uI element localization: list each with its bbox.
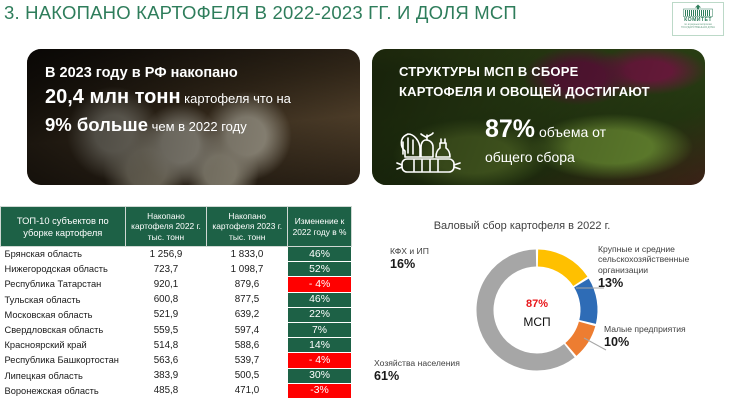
table-row: Республика Башкортостан563,6539,7- 4%: [1, 353, 352, 368]
cell-2023: 500,5: [207, 368, 288, 383]
legend-small-enterprises: Малые предприятия 10%: [604, 324, 726, 350]
cell-2022: 1 256,9: [125, 247, 207, 262]
table-row: Тульская область600,8877,546%: [1, 292, 352, 307]
table-row: Липецкая область383,9500,530%: [1, 368, 352, 383]
cell-change: - 4%: [288, 277, 352, 292]
msp-line-1: СТРУКТУРЫ МСП В СБОРЕ: [399, 62, 705, 82]
legend-large-line2: сельскохозяйственные: [598, 254, 724, 264]
cell-region: Свердловская область: [1, 322, 126, 337]
card-potato-harvest: В 2023 году в РФ накопано 20,4 млн тонн …: [27, 49, 360, 185]
top10-regions-table: ТОП-10 субъектов по уборке картофеля Нак…: [0, 206, 352, 399]
legend-kfh-name: КФХ и ИП: [390, 246, 482, 256]
msp-value-line-2: общего сбора: [485, 145, 705, 169]
cell-2022: 514,8: [125, 338, 207, 353]
cell-change: 52%: [288, 262, 352, 277]
potato-line-1: В 2023 году в РФ накопано: [45, 63, 360, 84]
column-header-2023: Накопано картофеля 2023 г. тыс. тонн: [207, 207, 288, 247]
legend-small-value: 10%: [604, 335, 726, 350]
col1-line2: уборке картофеля: [3, 227, 123, 239]
table-header: ТОП-10 субъектов по уборке картофеля Нак…: [1, 207, 352, 247]
cell-region: Республика Башкортостан: [1, 353, 126, 368]
cell-2023: 588,6: [207, 338, 288, 353]
cell-2023: 1 833,0: [207, 247, 288, 262]
gross-harvest-chart: Валовый сбор картофеля в 2022 г. 87% МСП…: [372, 216, 730, 410]
potato-line-3: 9% больше чем в 2022 году: [45, 112, 360, 139]
card-msp-share: СТРУКТУРЫ МСП В СБОРЕ КАРТОФЕЛЯ И ОВОЩЕЙ…: [372, 49, 705, 185]
potato-growth-suffix: чем в 2022 году: [152, 119, 247, 134]
legend-house-value: 61%: [374, 369, 514, 384]
legend-house-name: Хозяйства населения: [374, 358, 514, 368]
cell-region: Красноярский край: [1, 338, 126, 353]
cell-change: 7%: [288, 322, 352, 337]
col3-line2: картофеля 2023 г.: [209, 221, 285, 232]
legend-kfh-value: 16%: [390, 257, 482, 272]
table-row: Нижегородская область723,71 098,752%: [1, 262, 352, 277]
cell-change: 30%: [288, 368, 352, 383]
table-header-row: ТОП-10 субъектов по уборке картофеля Нак…: [1, 207, 352, 247]
cell-region: Воронежская область: [1, 383, 126, 398]
legend-kfh: КФХ и ИП 16%: [390, 246, 482, 272]
cell-2022: 383,9: [125, 368, 207, 383]
col1-line1: ТОП-10 субъектов по: [3, 215, 123, 227]
chart-title: Валовый сбор картофеля в 2022 г.: [372, 220, 672, 232]
msp-line-2: КАРТОФЕЛЯ И ОВОЩЕЙ ДОСТИГАЮТ: [399, 82, 705, 102]
msp-percent-value: 87%: [485, 115, 535, 143]
table-row: Воронежская область485,8471,0-3%: [1, 383, 352, 398]
cell-change: 46%: [288, 247, 352, 262]
slide-root: 3. НАКОПАНО КАРТОФЕЛЯ В 2022-2023 ГГ. И …: [0, 0, 730, 410]
potato-line-2: 20,4 млн тонн картофеля что на: [45, 84, 360, 112]
cell-change: - 4%: [288, 353, 352, 368]
table-body: Брянская область1 256,91 833,046%Нижегор…: [1, 247, 352, 399]
col4-line2: 2022 году в %: [290, 227, 349, 238]
cell-region: Липецкая область: [1, 368, 126, 383]
msp-value-line: 87% объема от: [485, 116, 705, 145]
table-row: Свердловская область559,5597,47%: [1, 322, 352, 337]
cell-2022: 521,9: [125, 307, 207, 322]
legend-households: Хозяйства населения 61%: [374, 358, 514, 384]
logo-subtitle-2: ГОСУДАРСТВЕННАЯ ДУМА: [681, 26, 715, 29]
table-row: Брянская область1 256,91 833,046%: [1, 247, 352, 262]
legend-large-line1: Крупные и средние: [598, 244, 724, 254]
cell-2022: 563,6: [125, 353, 207, 368]
legend-small-name: Малые предприятия: [604, 324, 726, 334]
msp-value-suffix: объема от: [539, 124, 606, 140]
potato-growth-value: 9% больше: [45, 114, 148, 135]
cell-change: 14%: [288, 338, 352, 353]
column-header-2022: Накопано картофеля 2022 г. тыс. тонн: [125, 207, 207, 247]
col3-line1: Накопано: [209, 211, 285, 222]
cell-2023: 597,4: [207, 322, 288, 337]
cell-2022: 920,1: [125, 277, 207, 292]
cell-region: Тульская область: [1, 292, 126, 307]
card-potato-content: В 2023 году в РФ накопано 20,4 млн тонн …: [27, 49, 360, 139]
cell-2023: 471,0: [207, 383, 288, 398]
crest-icon: [683, 4, 713, 17]
col2-line2: картофеля 2022 г.: [128, 221, 205, 232]
col3-line3: тыс. тонн: [209, 232, 285, 243]
cell-change: 46%: [288, 292, 352, 307]
table-row: Республика Татарстан920,1879,6- 4%: [1, 277, 352, 292]
donut-chart: [475, 248, 599, 372]
col4-line1: Изменение к: [290, 216, 349, 227]
potato-volume-suffix: картофеля что на: [184, 91, 291, 106]
cell-change: -3%: [288, 383, 352, 398]
legend-large-orgs: Крупные и средние сельскохозяйственные о…: [598, 244, 724, 291]
committee-logo: КОМИТЕТ по аграрным вопросам ГОСУДАРСТВЕ…: [672, 2, 724, 36]
potato-volume-value: 20,4 млн тонн: [45, 86, 181, 108]
column-header-region: ТОП-10 субъектов по уборке картофеля: [1, 207, 126, 247]
cell-region: Нижегородская область: [1, 262, 126, 277]
cell-2023: 1 098,7: [207, 262, 288, 277]
cell-region: Московская область: [1, 307, 126, 322]
cell-2022: 723,7: [125, 262, 207, 277]
cell-2023: 879,6: [207, 277, 288, 292]
cell-region: Республика Татарстан: [1, 277, 126, 292]
cell-2023: 877,5: [207, 292, 288, 307]
table-row: Красноярский край514,8588,614%: [1, 338, 352, 353]
donut-slice-0: [485, 258, 569, 362]
legend-large-value: 13%: [598, 276, 724, 291]
donut-slice-2: [581, 283, 589, 322]
donut-slice-3: [571, 324, 587, 350]
cell-2022: 559,5: [125, 322, 207, 337]
legend-large-line3: организации: [598, 265, 724, 275]
cell-2022: 485,8: [125, 383, 207, 398]
cell-2023: 639,2: [207, 307, 288, 322]
cell-region: Брянская область: [1, 247, 126, 262]
col2-line1: Накопано: [128, 211, 205, 222]
donut-slice-1: [538, 258, 580, 281]
cell-2023: 539,7: [207, 353, 288, 368]
col2-line3: тыс. тонн: [128, 232, 205, 243]
cell-change: 22%: [288, 307, 352, 322]
page-title: 3. НАКОПАНО КАРТОФЕЛЯ В 2022-2023 ГГ. И …: [4, 2, 517, 24]
table-row: Московская область521,9639,222%: [1, 307, 352, 322]
cell-2022: 600,8: [125, 292, 207, 307]
column-header-change: Изменение к 2022 году в %: [288, 207, 352, 247]
vegetables-icon: [396, 129, 468, 177]
